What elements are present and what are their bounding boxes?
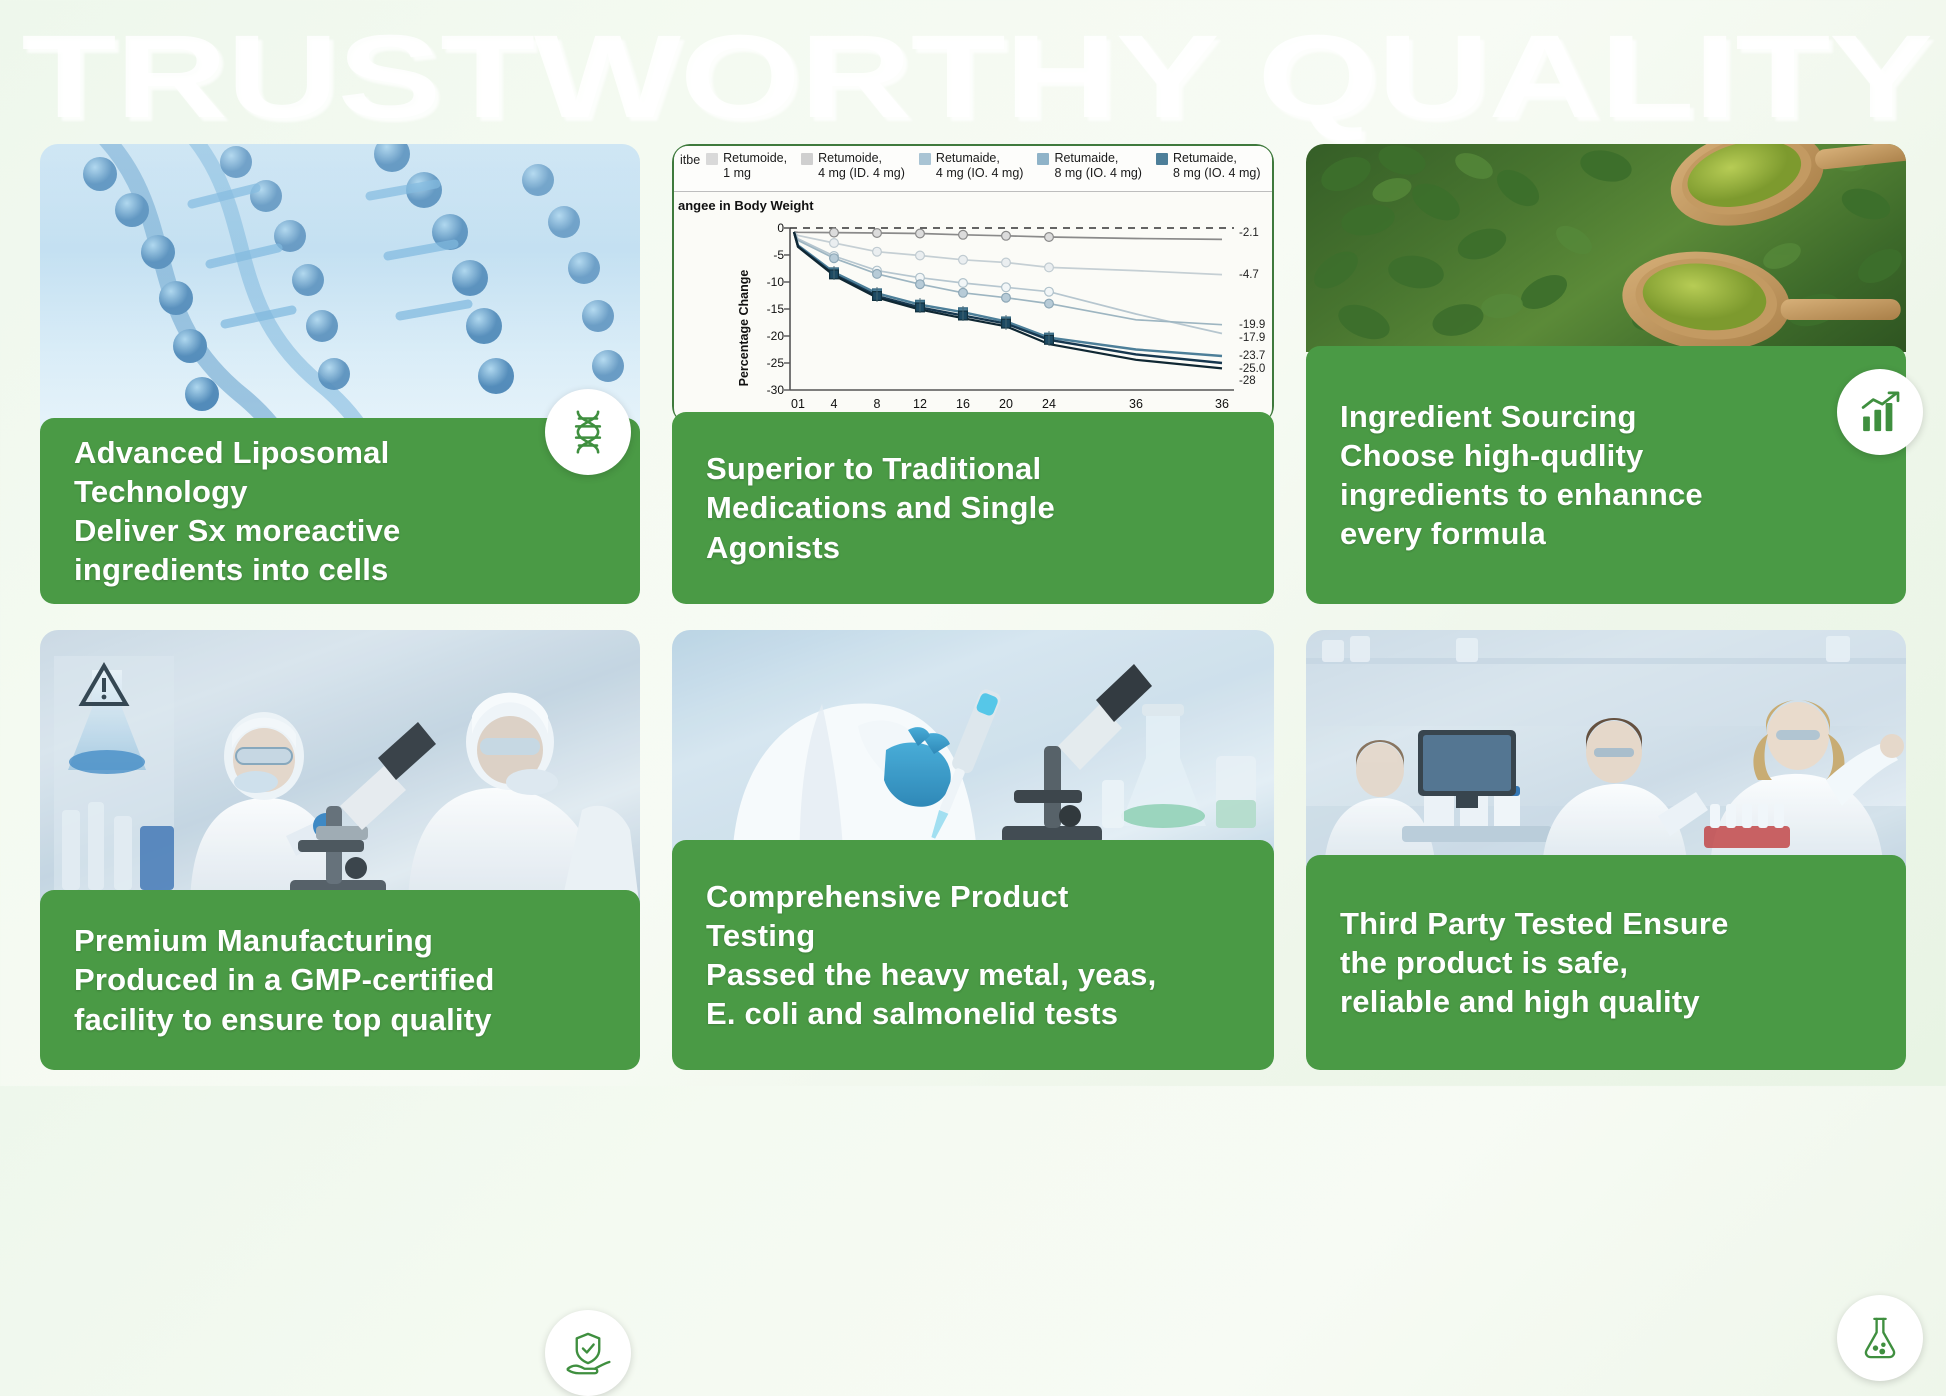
svg-text:-10: -10 — [767, 275, 785, 289]
legend-item: Retumoide,4 mg (ID. 4 mg) — [801, 151, 905, 181]
svg-text:4: 4 — [831, 397, 838, 411]
card-body: Passed the heavy metal, yeas, E. coli an… — [706, 955, 1248, 1033]
chart-end-label: -23.7 — [1239, 350, 1265, 362]
feature-card-comprehensive-product-testing[interactable]: Comprehensive Product Testing Passed the… — [672, 630, 1274, 1070]
page-title-wrapper: TRUSTWORTHY QUALITY — [0, 8, 1946, 138]
svg-text:-5: -5 — [773, 248, 784, 262]
card-caption-comprehensive-product-testing: Comprehensive Product Testing Passed the… — [672, 840, 1274, 1070]
chart-end-label: -2.1 — [1239, 227, 1259, 239]
legend-item: Retumaide,4 mg (IO. 4 mg) — [919, 151, 1024, 181]
legend-label: Retumoide,1 mg — [723, 151, 787, 181]
feature-card-third-party-tested[interactable]: Third Party Tested Ensure the product is… — [1306, 630, 1906, 1070]
legend-swatch — [919, 153, 931, 165]
chart-end-label: -19.9 — [1239, 319, 1265, 331]
feature-card-ingredient-sourcing[interactable]: Ingredient Sourcing Choose high-qudlity … — [1306, 144, 1906, 604]
svg-text:20: 20 — [999, 397, 1013, 411]
legend-swatch — [1037, 153, 1049, 165]
card-caption-superior-to-traditional-medications: Superior to Traditional Medications and … — [672, 412, 1274, 604]
card-caption-ingredient-sourcing: Ingredient Sourcing Choose high-qudlity … — [1306, 346, 1906, 604]
legend-swatch — [801, 153, 813, 165]
legend-swatch — [1156, 153, 1168, 165]
hand-shield-check-icon — [561, 1326, 615, 1380]
card-body: the product is safe, reliable and high q… — [1340, 943, 1880, 1021]
legend-label: Retumaide,8 mg (IO. 4 mg) — [1054, 151, 1142, 181]
card-heading: Superior to Traditional — [706, 449, 1248, 488]
card-body: Produced in a GMP-certified facility to … — [74, 960, 614, 1038]
chart-end-label: -17.9 — [1239, 332, 1265, 344]
flask-icon — [1853, 1311, 1907, 1365]
chart-svg: Percentage Change 0 -5 -10 -15 -20 -25 -… — [674, 216, 1272, 424]
chart-end-label: -28 — [1239, 375, 1256, 387]
dna-icon — [561, 405, 615, 459]
chart-title: angee in Body Weight — [678, 198, 814, 213]
badge-flask-icon — [1837, 1295, 1923, 1381]
svg-text:36: 36 — [1215, 397, 1229, 411]
card-heading: Ingredient Sourcing — [1340, 397, 1880, 436]
chart-end-label: -4.7 — [1239, 269, 1259, 281]
chart-series-line — [794, 232, 1222, 325]
legend-label: Retumoide,4 mg (ID. 4 mg) — [818, 151, 905, 181]
svg-text:01: 01 — [791, 397, 805, 411]
bar-chart-growth-icon — [1853, 385, 1907, 439]
feature-card-premium-manufacturing[interactable]: Premium Manufacturing Produced in a GMP-… — [40, 630, 640, 1070]
chart-xtick-labels: 01 4 8 12 16 20 24 36 36 — [791, 397, 1229, 411]
legend-lead-label: itbe — [680, 153, 700, 167]
legend-item: Retumaide,8 mg (IO. 4 mg) — [1156, 151, 1261, 181]
chart-ylabel: Percentage Change — [737, 270, 751, 387]
card-body: Medications and Single Agonists — [706, 488, 1248, 566]
page-title: TRUSTWORTHY QUALITY — [18, 14, 1928, 132]
chart-legend: itbe Retumoide,1 mg Retumoide,4 mg (ID. … — [674, 146, 1272, 192]
svg-text:-20: -20 — [767, 329, 785, 343]
chart-plot-area: angee in Body Weight Percentage Change 0… — [674, 192, 1272, 422]
svg-text:16: 16 — [956, 397, 970, 411]
chart-ytick-labels: 0 -5 -10 -15 -20 -25 -30 — [767, 221, 785, 397]
card-image-lab-technicians-photo — [1306, 630, 1906, 875]
badge-bar-chart-growth-icon — [1837, 369, 1923, 455]
svg-text:-30: -30 — [767, 383, 785, 397]
badge-hand-shield-check-icon — [545, 1310, 631, 1396]
card-body: Choose high-qudlity ingredients to enhan… — [1340, 436, 1880, 553]
svg-text:-15: -15 — [767, 302, 785, 316]
card-image-dna-double-helix-photo — [40, 144, 640, 444]
legend-item: Retumoide,1 mg — [706, 151, 787, 181]
card-heading: Comprehensive Product Testing — [706, 877, 1248, 955]
feature-card-advanced-liposomal-technology[interactable]: Advanced Liposomal Technology Deliver Sx… — [40, 144, 640, 604]
card-body: Deliver Sx moreactive ingredients into c… — [74, 511, 614, 589]
legend-label: Retumaide,4 mg (IO. 4 mg) — [936, 151, 1024, 181]
legend-item: Retumaide,8 mg (IO. 4 mg) — [1037, 151, 1142, 181]
card-image-scientists-microscope-lab-photo — [40, 630, 640, 910]
card-caption-third-party-tested: Third Party Tested Ensure the product is… — [1306, 855, 1906, 1070]
legend-swatch — [706, 153, 718, 165]
chart-container: itbe Retumoide,1 mg Retumoide,4 mg (ID. … — [672, 144, 1274, 424]
svg-text:24: 24 — [1042, 397, 1056, 411]
svg-text:36: 36 — [1129, 397, 1143, 411]
svg-text:12: 12 — [913, 397, 927, 411]
card-image-clinical-weight-loss-chart: itbe Retumoide,1 mg Retumoide,4 mg (ID. … — [672, 144, 1274, 424]
chart-end-labels: -2.1 -4.7 -19.9 -17.9 -23.7 -25.0 -28 — [1239, 227, 1265, 387]
badge-dna-icon — [545, 389, 631, 475]
card-image-pipette-gloved-hand-photo — [672, 630, 1274, 870]
legend-label: Retumaide,8 mg (IO. 4 mg) — [1173, 151, 1261, 181]
card-heading: Premium Manufacturing — [74, 921, 614, 960]
feature-card-superior-to-traditional-medications[interactable]: itbe Retumoide,1 mg Retumoide,4 mg (ID. … — [672, 144, 1274, 604]
card-heading: Third Party Tested Ensure — [1340, 904, 1880, 943]
chart-end-label: -25.0 — [1239, 363, 1265, 375]
card-heading: Advanced Liposomal Technology — [74, 433, 614, 511]
svg-text:0: 0 — [777, 221, 784, 235]
features-grid: Advanced Liposomal Technology Deliver Sx… — [0, 140, 1946, 1070]
svg-text:8: 8 — [874, 397, 881, 411]
card-caption-premium-manufacturing: Premium Manufacturing Produced in a GMP-… — [40, 890, 640, 1070]
card-image-green-powder-herbs-photo — [1306, 144, 1906, 352]
svg-text:-25: -25 — [767, 356, 785, 370]
